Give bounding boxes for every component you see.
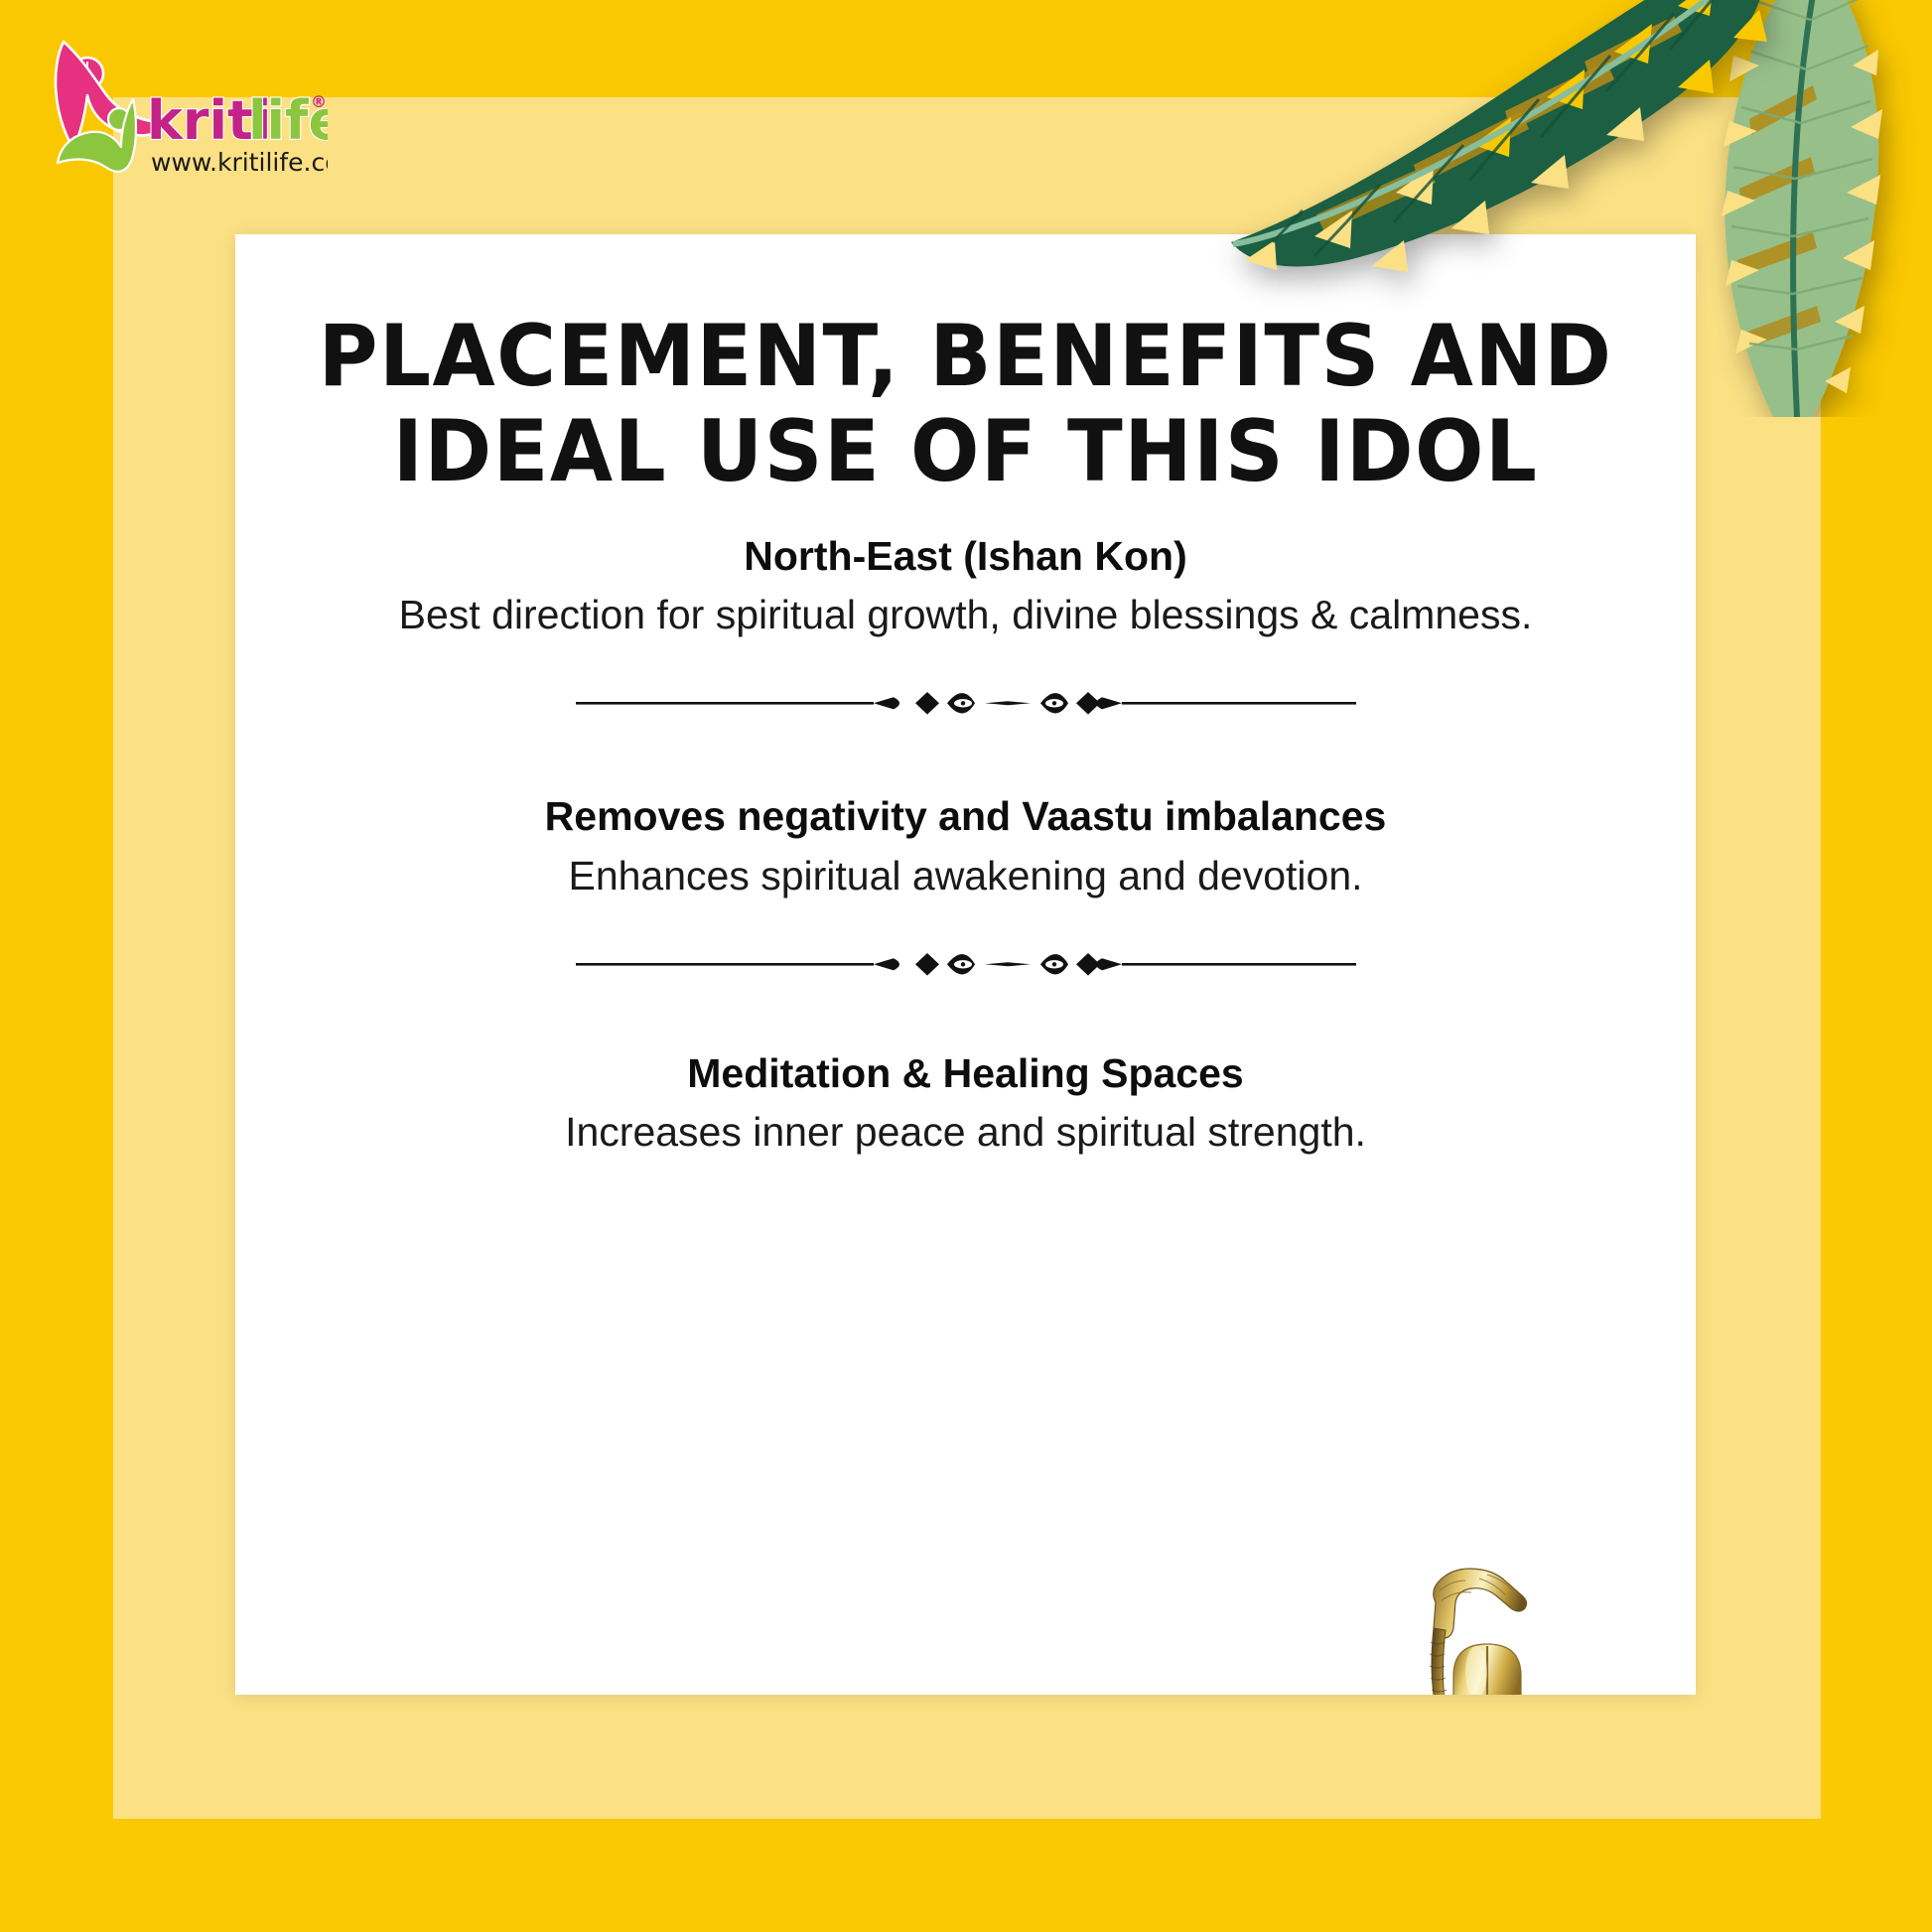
poster-canvas: PLACEMENT, BENEFITS AND IDEAL USE OF THI…: [0, 0, 1932, 1932]
section-heading: Removes negativity and Vaastu imbalances: [343, 792, 1588, 841]
section-heading: North-East (Ishan Kon): [343, 532, 1588, 581]
section-body: Enhances spiritual awakening and devotio…: [343, 850, 1588, 902]
logo-website: www.kritilife.com: [151, 148, 328, 177]
section-heading: Meditation & Healing Spaces: [343, 1049, 1588, 1098]
registered-mark: ®: [311, 92, 327, 111]
brand-logo[interactable]: kriti life ® www.kritilife.com: [30, 22, 328, 181]
section-meditation-healing: Meditation & Healing Spaces Increases in…: [295, 1049, 1636, 1159]
ornamental-divider-2: [574, 942, 1358, 986]
section-body: Best direction for spiritual growth, div…: [343, 589, 1588, 641]
page-title: PLACEMENT, BENEFITS AND IDEAL USE OF THI…: [235, 309, 1696, 500]
ornamental-divider-1: [574, 681, 1358, 725]
section-north-east: North-East (Ishan Kon) Best direction fo…: [295, 532, 1636, 641]
content-card: PLACEMENT, BENEFITS AND IDEAL USE OF THI…: [235, 234, 1696, 1695]
section-body: Increases inner peace and spiritual stre…: [343, 1106, 1588, 1159]
sections-list: North-East (Ishan Kon) Best direction fo…: [295, 532, 1636, 1159]
shivling-idol-image: [1348, 1551, 1666, 1695]
section-removes-negativity: Removes negativity and Vaastu imbalances…: [295, 792, 1636, 901]
title-line-2: IDEAL USE OF THIS IDOL: [272, 404, 1659, 499]
title-line-1: PLACEMENT, BENEFITS AND: [272, 309, 1659, 404]
